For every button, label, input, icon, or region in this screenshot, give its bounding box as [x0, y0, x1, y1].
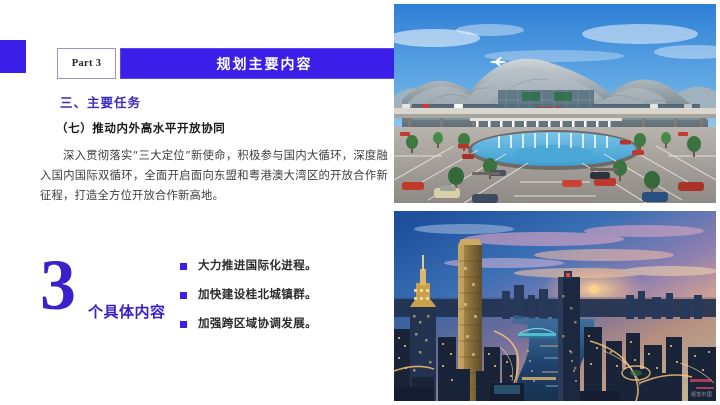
city-skyline-illustration: [394, 211, 716, 401]
slide-header: Part 3 规划主要内容: [57, 48, 409, 79]
title-band: 规划主要内容: [120, 48, 409, 79]
sub-heading: （七）推动内外高水平开放协同: [56, 120, 225, 136]
list-item-label: 加快建设桂北城镇群。: [198, 287, 317, 302]
airport-illustration: [394, 4, 716, 203]
image-watermark: 视觉中国: [691, 391, 712, 398]
photo-airport-terminal: [394, 4, 716, 203]
photo-city-skyline: 视觉中国: [394, 211, 716, 401]
count-caption: 个具体内容: [88, 301, 166, 322]
list-item: 加快建设桂北城镇群。: [180, 287, 360, 302]
bullet-list: 大力推进国际化进程。 加快建设桂北城镇群。 加强跨区域协调发展。: [180, 258, 360, 345]
page-title: 规划主要内容: [217, 54, 313, 74]
count-number: 3: [40, 249, 76, 321]
section-heading: 三、主要任务: [60, 92, 141, 111]
part-chip: Part 3: [57, 48, 116, 79]
list-item: 加强跨区域协调发展。: [180, 316, 360, 331]
count-block: 3 个具体内容: [40, 255, 190, 335]
decor-left-square: [0, 40, 26, 73]
part-chip-label: Part 3: [72, 58, 102, 69]
list-item: 大力推进国际化进程。: [180, 258, 360, 273]
square-bullet-icon: [180, 292, 187, 299]
body-paragraph: 深入贯彻落实“三大定位”新使命，积极参与国内大循环，深度融入国内国际双循环，全面…: [40, 146, 388, 206]
square-bullet-icon: [180, 321, 187, 328]
square-bullet-icon: [180, 263, 187, 270]
list-item-label: 加强跨区域协调发展。: [198, 316, 317, 331]
list-item-label: 大力推进国际化进程。: [198, 258, 317, 273]
